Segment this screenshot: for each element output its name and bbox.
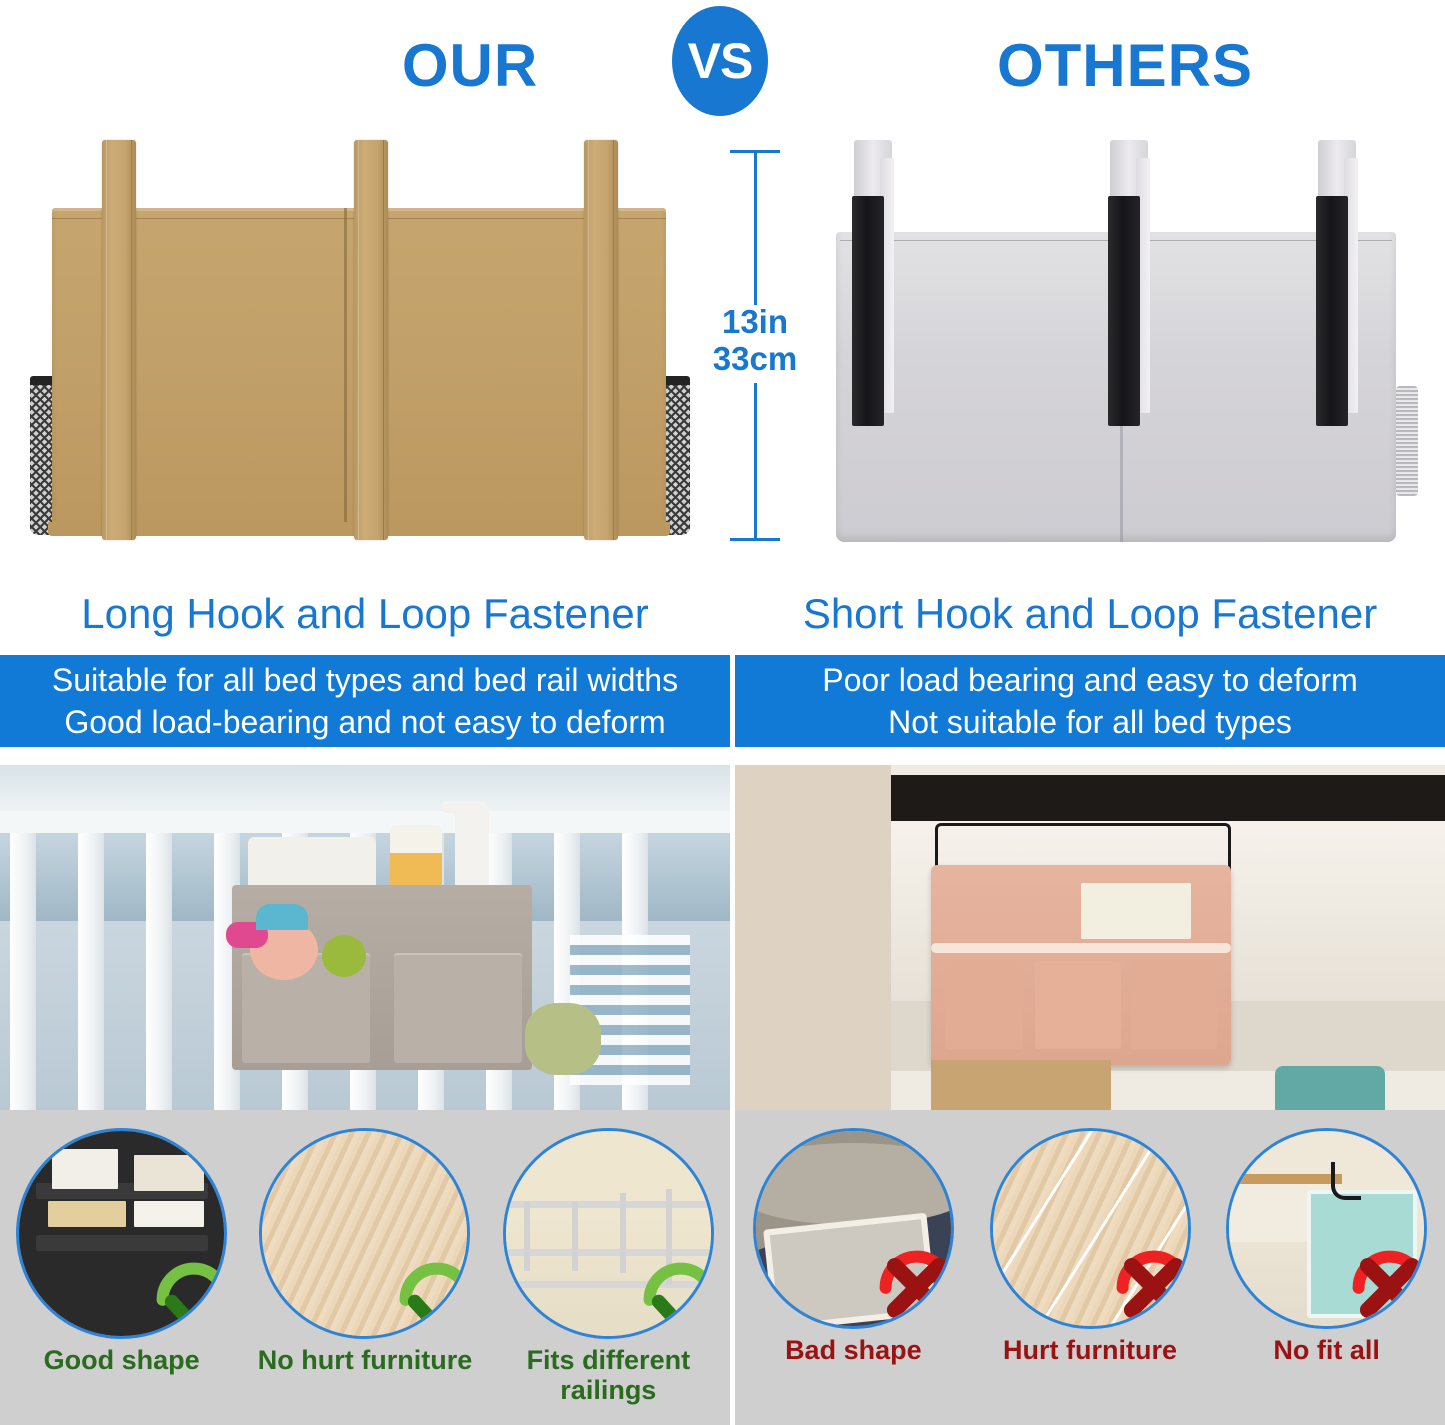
- short-fastener-strap-2: [1108, 140, 1152, 430]
- crib-rail-top: [0, 811, 730, 833]
- feature-caption: Fits different railings: [487, 1345, 730, 1405]
- organizer-pocket: [945, 961, 1023, 1049]
- feature-thumbnail: [753, 1128, 954, 1329]
- organizer-pocket: [394, 953, 522, 1063]
- stored-book: [134, 1155, 204, 1191]
- product-comparison-row: 13in 33cm: [0, 128, 1445, 573]
- feature-fits-railings: Fits different railings: [487, 1110, 730, 1425]
- our-banner-line-1: Suitable for all bed types and bed rail …: [52, 659, 678, 701]
- organizer-shelf: [36, 1235, 208, 1251]
- lotion-pump-bottle: [455, 807, 489, 897]
- others-heading: OTHERS: [930, 20, 1320, 110]
- red-cross-icon: [869, 1240, 954, 1329]
- measure-line-top: [754, 150, 757, 305]
- railing-bar: [506, 1201, 711, 1208]
- green-check-icon: [633, 1252, 714, 1339]
- organizer-pocket: [1035, 961, 1121, 1049]
- feature-hurt-furniture: Hurt furniture: [972, 1110, 1209, 1425]
- crib-mattress: [0, 765, 730, 811]
- feature-caption: Hurt furniture: [1003, 1335, 1177, 1365]
- other-product-image: [820, 136, 1420, 566]
- measure-label: 13in 33cm: [700, 303, 810, 377]
- other-subtitle: Short Hook and Loop Fastener: [735, 573, 1445, 655]
- feature-thumbnail: [503, 1128, 714, 1339]
- vs-badge: VS: [672, 6, 768, 116]
- our-banner-line-2: Good load-bearing and not easy to deform: [64, 701, 665, 743]
- metal-hook-icon: [1331, 1162, 1361, 1200]
- feature-bad-shape: Bad shape: [735, 1110, 972, 1425]
- measure-inches: 13in: [722, 303, 788, 340]
- our-subtitle: Long Hook and Loop Fastener: [0, 573, 730, 655]
- crib-slat: [146, 833, 172, 1110]
- green-check-icon: [146, 1252, 227, 1339]
- green-check-icon: [389, 1252, 470, 1339]
- feature-good-shape: Good shape: [0, 1110, 243, 1425]
- plush-toy-green: [322, 935, 366, 977]
- feature-thumbnail: [16, 1128, 227, 1339]
- other-banner-line-1: Poor load bearing and easy to deform: [822, 659, 1357, 701]
- bedroom-scene: [735, 765, 1445, 1110]
- measure-centimeters: 33cm: [713, 340, 797, 377]
- other-lifestyle-photo: [735, 765, 1445, 1110]
- wipes-pack: [248, 837, 376, 891]
- sagging-pink-organizer: [931, 865, 1231, 1065]
- stored-paper: [52, 1149, 118, 1189]
- subtitle-row: Long Hook and Loop Fastener Short Hook a…: [0, 573, 1445, 655]
- feature-no-fit-all: No fit all: [1208, 1110, 1445, 1425]
- velcro-patch-1: [852, 196, 884, 426]
- our-banner: Suitable for all bed types and bed rail …: [0, 655, 730, 747]
- long-fastener-strap-3: [584, 140, 618, 540]
- measure-cap-bottom: [730, 538, 780, 541]
- teal-chair: [1275, 1066, 1385, 1110]
- short-fastener-strap-3: [1316, 140, 1360, 430]
- other-mesh-pocket: [1396, 386, 1418, 496]
- stored-box: [1081, 883, 1191, 939]
- feature-thumbnail: [990, 1128, 1191, 1329]
- height-measurement: 13in 33cm: [700, 128, 810, 573]
- velcro-patch-3: [1316, 196, 1348, 426]
- feature-caption: No fit all: [1273, 1335, 1380, 1365]
- feature-thumbnail: [259, 1128, 470, 1339]
- feature-no-hurt-furniture: No hurt furniture: [243, 1110, 486, 1425]
- plush-toy-donkey: [250, 920, 318, 980]
- crib-slat: [78, 833, 104, 1110]
- room-wall: [735, 765, 891, 1110]
- feature-caption: No hurt furniture: [258, 1345, 472, 1375]
- feature-caption: Good shape: [44, 1345, 200, 1375]
- crib-scene: [0, 765, 730, 1110]
- feature-thumbnail: [1226, 1128, 1427, 1329]
- velcro-patch-2: [1108, 196, 1140, 426]
- railing-post: [524, 1201, 530, 1271]
- crib-slat: [10, 833, 36, 1110]
- red-cross-icon: [1106, 1240, 1191, 1329]
- red-cross-icon: [1342, 1240, 1427, 1329]
- measure-line-bottom: [754, 383, 757, 538]
- organizer-pocket: [1131, 961, 1217, 1049]
- header: OUR VS OTHERS: [0, 0, 1445, 128]
- our-lifestyle-photo: [0, 765, 730, 1110]
- comparison-infographic: OUR VS OTHERS 13in 33cm: [0, 0, 1445, 1425]
- railing-post: [620, 1193, 626, 1273]
- other-feature-strip: Bad shape Hurt furniture: [735, 1110, 1445, 1425]
- organizer-rim: [931, 943, 1231, 953]
- long-fastener-strap-1: [102, 140, 136, 540]
- our-feature-strip: Good shape No hurt furniture: [0, 1110, 730, 1425]
- bed-frame-edge: [891, 775, 1445, 821]
- feature-caption: Bad shape: [785, 1335, 922, 1365]
- cardboard-carton: [931, 1060, 1111, 1110]
- organizer-seam: [344, 208, 347, 533]
- stored-notebook: [134, 1201, 204, 1227]
- short-fastener-strap-1: [852, 140, 896, 430]
- long-fastener-strap-2: [354, 140, 388, 540]
- other-banner: Poor load bearing and easy to deform Not…: [735, 655, 1445, 747]
- railing-post: [572, 1201, 578, 1271]
- our-product-image: [14, 136, 704, 566]
- stored-magazine: [48, 1201, 126, 1227]
- other-banner-line-2: Not suitable for all bed types: [888, 701, 1292, 743]
- our-heading: OUR: [300, 20, 640, 110]
- plush-toy-elephant: [525, 1003, 601, 1075]
